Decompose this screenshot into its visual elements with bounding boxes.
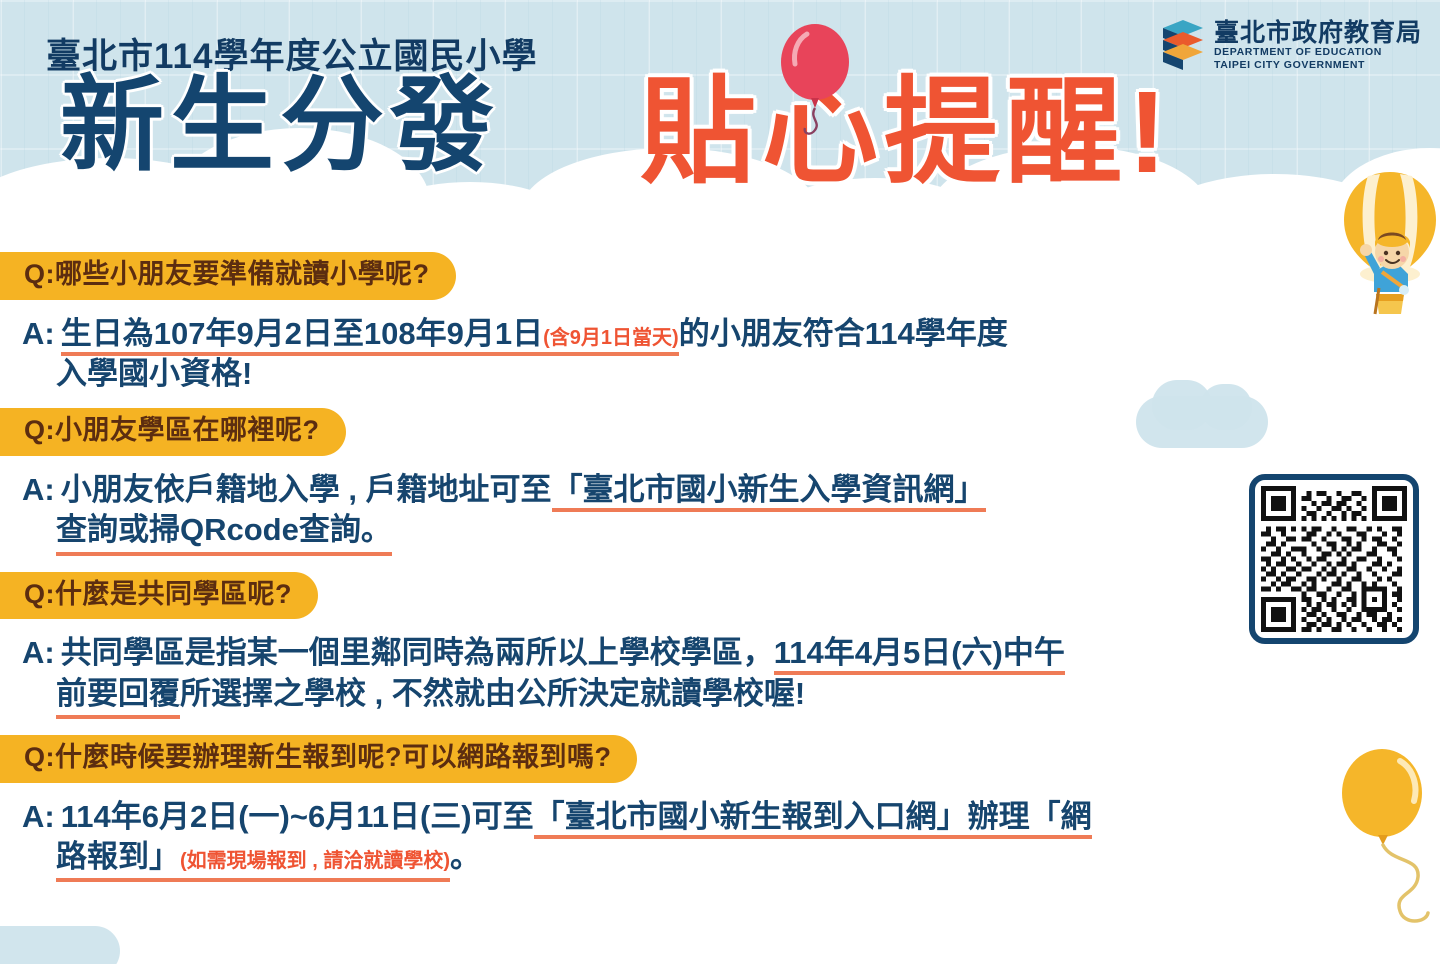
answer-3-part-1: 114年4月5日(六)中午 bbox=[774, 635, 1065, 675]
answer-4-part-5: 。 bbox=[450, 839, 481, 874]
answer-1-part-3: 的小朋友符合114學年度 bbox=[679, 316, 1008, 351]
question-3: Q:什麼是共同學區呢? bbox=[0, 572, 318, 620]
answer-1-label: A: bbox=[22, 316, 55, 351]
poster-root: 臺北市政府教育局 DEPARTMENT OF EDUCATION TAIPEI … bbox=[0, 0, 1440, 964]
cloud-decoration-bottom-left bbox=[0, 926, 120, 964]
qa-block-4: Q:什麼時候要辦理新生報到呢?可以網路報到嗎? A:114年6月2日(一)~6月… bbox=[0, 735, 1440, 882]
red-balloon-icon bbox=[775, 20, 849, 140]
question-2: Q:小朋友學區在哪裡呢? bbox=[0, 408, 346, 456]
taipei-education-logo: 臺北市政府教育局 DEPARTMENT OF EDUCATION TAIPEI … bbox=[1161, 18, 1422, 74]
answer-4: A:114年6月2日(一)~6月11日(三)可至「臺北市國小新生報到入口網」辦理… bbox=[0, 797, 1440, 883]
question-1: Q:哪些小朋友要準備就讀小學呢? bbox=[0, 252, 456, 300]
answer-2-label: A: bbox=[22, 472, 55, 507]
answer-3-part-3: 所選擇之學校 , 不然就由公所決定就讀學校喔! bbox=[180, 676, 805, 711]
answer-2-part-1: 「臺北市國小新生入學資訊網」 bbox=[552, 472, 986, 512]
answer-3-label: A: bbox=[22, 635, 55, 670]
poster-title-main: 新生分發 bbox=[60, 74, 500, 178]
qa-block-2: Q:小朋友學區在哪裡呢? A:小朋友依戶籍地入學 , 戶籍地址可至「臺北市國小新… bbox=[0, 408, 1440, 555]
answer-4-part-3: 路報到」(如需現場報到 , 請洽就讀學校) bbox=[56, 837, 450, 882]
yellow-balloon-icon bbox=[1340, 745, 1440, 945]
answer-1-note: (含9月1日當天) bbox=[543, 327, 679, 349]
answer-4-label: A: bbox=[22, 799, 55, 834]
poster-title-accent: 貼心提醒! bbox=[640, 74, 1173, 190]
answer-1: A:生日為107年9月2日至108年9月1日(含9月1日當天)的小朋友符合114… bbox=[0, 314, 1440, 395]
answer-2-part-0: 小朋友依戶籍地入學 , 戶籍地址可至 bbox=[61, 472, 552, 507]
answer-2: A:小朋友依戶籍地入學 , 戶籍地址可至「臺北市國小新生入學資訊網」 查詢或掃Q… bbox=[0, 470, 1440, 556]
answer-3: A:共同學區是指某一個里鄰同時為兩所以上學校學區，114年4月5日(六)中午 前… bbox=[0, 633, 1440, 719]
answer-2-part-2: 查詢或掃QRcode查詢。 bbox=[56, 510, 392, 555]
qr-code[interactable] bbox=[1249, 474, 1419, 644]
question-4: Q:什麼時候要辦理新生報到呢?可以網路報到嗎? bbox=[0, 735, 637, 783]
logo-mark-icon bbox=[1161, 18, 1205, 74]
answer-4-part-0: 114年6月2日(一)~6月11日(三)可至 bbox=[61, 799, 534, 834]
qr-code-image bbox=[1261, 486, 1407, 632]
answer-4-part-1: 「臺北市國小新生報到入口網」辦理「網 bbox=[534, 799, 1092, 839]
answer-1-part-0: 生日為107年9月2日至108年9月1日(含9月1日當天) bbox=[61, 316, 679, 356]
answer-3-part-2: 前要回覆 bbox=[56, 674, 180, 719]
answer-4-note: (如需現場報到 , 請洽就讀學校) bbox=[180, 850, 450, 872]
answer-3-part-0: 共同學區是指某一個里鄰同時為兩所以上學校學區， bbox=[61, 635, 774, 670]
answer-1-part-4: 入學國小資格! bbox=[56, 356, 252, 391]
logo-name-en-line2: TAIPEI CITY GOVERNMENT bbox=[1214, 59, 1422, 72]
qa-section: Q:哪些小朋友要準備就讀小學呢? A:生日為107年9月2日至108年9月1日(… bbox=[0, 252, 1440, 882]
logo-name-en-line1: DEPARTMENT OF EDUCATION bbox=[1214, 46, 1422, 59]
qa-block-3: Q:什麼是共同學區呢? A:共同學區是指某一個里鄰同時為兩所以上學校學區，114… bbox=[0, 572, 1440, 719]
logo-name-zh: 臺北市政府教育局 bbox=[1214, 20, 1422, 46]
qa-block-1: Q:哪些小朋友要準備就讀小學呢? A:生日為107年9月2日至108年9月1日(… bbox=[0, 252, 1440, 394]
